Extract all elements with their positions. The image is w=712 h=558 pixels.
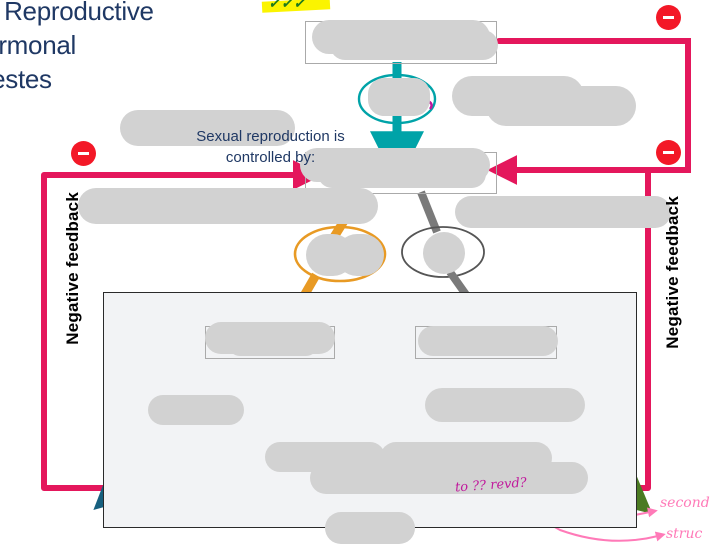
redaction-blob — [368, 78, 430, 116]
minus-circle-icon — [656, 5, 681, 30]
centre-caption: Sexual reproduction is controlled by: — [163, 126, 378, 168]
pink-ink-annotation-struct: struc — [666, 526, 702, 542]
edge-mid-to-gray — [421, 192, 437, 232]
redaction-blob — [425, 388, 585, 422]
redaction-blob — [228, 332, 318, 356]
redaction-blob — [78, 188, 378, 224]
redaction-blob — [423, 232, 465, 274]
pink-ink-annotation-second: second — [660, 495, 710, 511]
redaction-blob — [336, 234, 384, 276]
redaction-blob — [325, 512, 415, 544]
redaction-blob — [148, 395, 244, 425]
minus-circle-icon — [71, 141, 96, 166]
page-title: Male Reproductive n: hormonal the testes — [0, 0, 272, 96]
redaction-blob — [418, 326, 558, 356]
negative-feedback-label-left: Negative feedback — [63, 192, 83, 345]
green-ink-annotation: ✓✓✓ — [268, 0, 306, 12]
redaction-blob — [330, 30, 498, 60]
left-notes-stub: | — [0, 500, 14, 520]
redaction-blob — [486, 86, 636, 126]
left-notes-top: re s = ne — [0, 100, 55, 193]
left-notes-bottom: tes) — [0, 284, 55, 315]
minus-circle-icon — [656, 140, 681, 165]
redaction-blob — [310, 462, 588, 494]
redaction-blob — [455, 196, 671, 228]
negative-feedback-label-right: Negative feedback — [663, 196, 683, 349]
